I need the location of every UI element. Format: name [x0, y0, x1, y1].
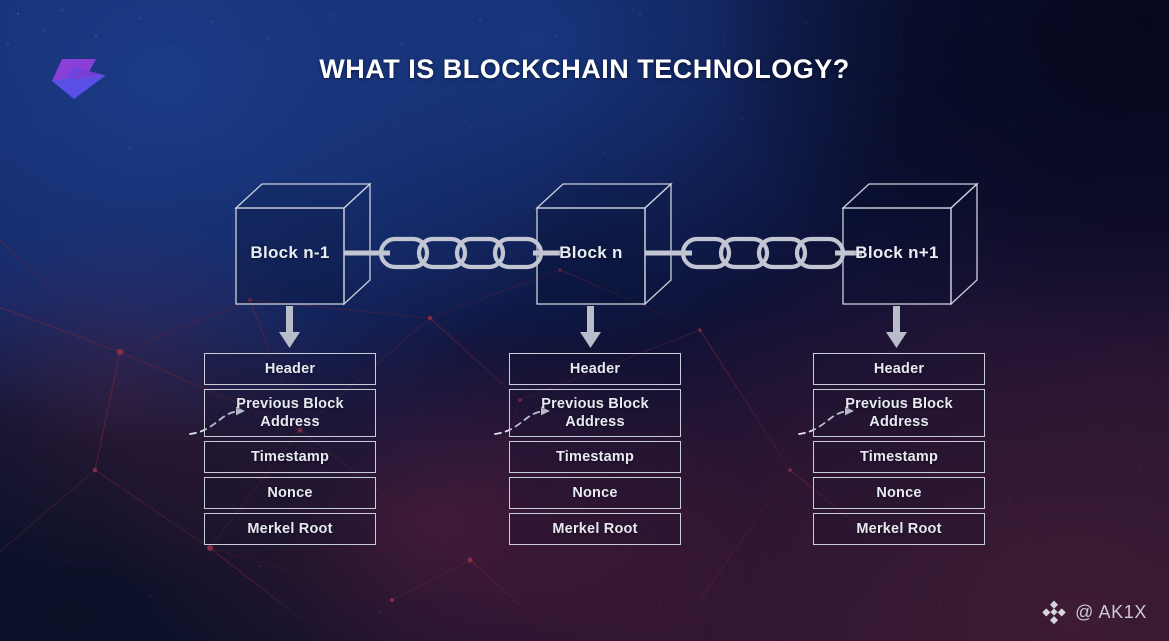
- field-merkel-3[interactable]: Merkel Root: [813, 513, 985, 545]
- field-nonce-3[interactable]: Nonce: [813, 477, 985, 509]
- chain-links-icon-1: [344, 239, 560, 267]
- field-prev-addr-3-text: Previous Block Address: [845, 395, 953, 431]
- field-header-3[interactable]: Header: [813, 353, 985, 385]
- arrow-down-icon-2: [580, 306, 601, 348]
- field-merkel-2[interactable]: Merkel Root: [509, 513, 681, 545]
- field-prev-addr-1[interactable]: Previous Block Address: [204, 389, 376, 437]
- arrow-down-icon-1: [279, 306, 300, 348]
- block-cube-3-label: Block n+1: [843, 243, 951, 263]
- block-cube-2-label: Block n: [537, 243, 645, 263]
- field-header-2[interactable]: Header: [509, 353, 681, 385]
- watermark-handle: @ AK1X: [1075, 602, 1147, 623]
- field-header-1[interactable]: Header: [204, 353, 376, 385]
- chain-links-icon-2: [645, 239, 862, 267]
- binance-diamond-icon: [1041, 599, 1067, 625]
- field-nonce-2[interactable]: Nonce: [509, 477, 681, 509]
- field-prev-addr-1-text: Previous Block Address: [236, 395, 344, 431]
- field-merkel-1[interactable]: Merkel Root: [204, 513, 376, 545]
- field-timestamp-1[interactable]: Timestamp: [204, 441, 376, 473]
- field-timestamp-3[interactable]: Timestamp: [813, 441, 985, 473]
- slide-canvas: WHAT IS BLOCKCHAIN TECHNOLOGY?: [0, 0, 1169, 641]
- field-nonce-1[interactable]: Nonce: [204, 477, 376, 509]
- field-prev-addr-2[interactable]: Previous Block Address: [509, 389, 681, 437]
- field-prev-addr-3[interactable]: Previous Block Address: [813, 389, 985, 437]
- field-timestamp-2[interactable]: Timestamp: [509, 441, 681, 473]
- arrow-down-icon-3: [886, 306, 907, 348]
- block-cube-1-label: Block n-1: [236, 243, 344, 263]
- field-prev-addr-2-text: Previous Block Address: [541, 395, 649, 431]
- watermark: @ AK1X: [1041, 599, 1147, 625]
